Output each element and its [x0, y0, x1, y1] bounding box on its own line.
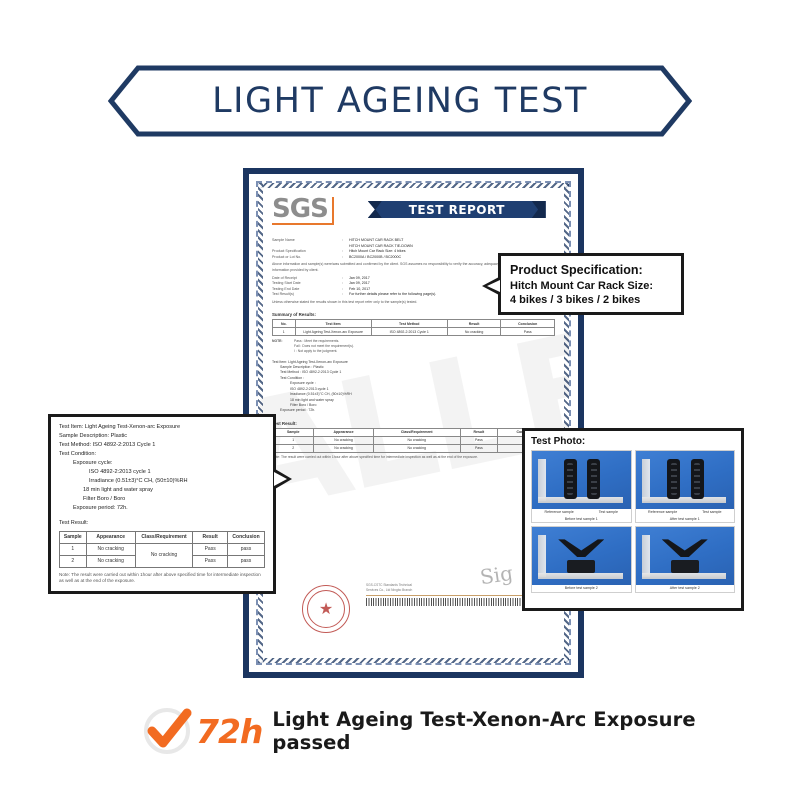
photo-caption: Before test sample 1 [532, 516, 631, 523]
column-header: No. [273, 320, 296, 328]
ruler-icon [538, 535, 546, 577]
ruler-icon [642, 459, 650, 501]
photo-image-before-1 [532, 451, 631, 509]
signature-area: ★ Sig SGS-CSTC Standards Technical Servi… [286, 583, 541, 639]
table-cell: No cracking [314, 436, 373, 444]
photo-label-right: Test sample [599, 509, 618, 516]
table-cell: 1 [60, 543, 87, 555]
rack-bracket-part [558, 539, 604, 573]
test-photo-title: Test Photo: [531, 436, 735, 447]
test-photo-grid: Reference sample Test sample Before test… [531, 450, 735, 593]
rack-belt-part [587, 459, 600, 499]
photo-cell: Before test sample 2 [531, 526, 632, 593]
official-stamp-icon: ★ [302, 585, 350, 633]
table-cell: Pass [501, 328, 555, 336]
test-note: Note: The result were carried out within… [59, 572, 265, 585]
border-zigzag-top [258, 183, 569, 188]
certificate-header: SGS TEST REPORT [272, 197, 555, 233]
column-header: Result [447, 320, 501, 328]
table-header-row: No. Test Item Test Method Result Conclus… [273, 320, 555, 328]
table-cell: No cracking [373, 436, 460, 444]
test-detail-callout: Test Item: Light Ageing Test-Xenon-arc E… [48, 414, 276, 594]
signature-block: Sig SGS-CSTC Standards Technical Service… [366, 583, 541, 606]
ruler-icon [642, 535, 650, 577]
column-header: Class/Requirement [373, 428, 460, 436]
rack-belt-part [564, 459, 577, 499]
table-cell: 2 [273, 444, 314, 452]
footer-caption: 72h Light Ageing Test-Xenon-Arc Exposure… [142, 706, 702, 756]
table-cell: Light Ageing Test-Xenon-arc Exposure [295, 328, 371, 336]
test-line: ISO 4892-2:2013 cycle 1 [59, 468, 265, 477]
table-cell: No cracking [135, 543, 192, 567]
photo-cell: Reference sample Test sample Before test… [531, 450, 632, 523]
ruler-icon [642, 573, 727, 579]
test-report-ribbon: TEST REPORT [368, 201, 546, 218]
photo-image-after-1 [636, 451, 735, 509]
column-header: Appearance [314, 428, 373, 436]
test-photo-callout: Test Photo: Reference sample Test sample… [522, 428, 744, 611]
rack-bracket-part [662, 539, 708, 573]
table-cell: No cracking [86, 543, 135, 555]
test-result-title: Test Result: [59, 519, 265, 528]
photo-label-right: Test sample [702, 509, 721, 516]
page-title: LIGHT AGEING TEST [108, 65, 692, 137]
ruler-icon [642, 497, 727, 503]
spec-heading: Product Specification: [510, 263, 672, 279]
ruler-icon [538, 459, 546, 501]
column-header: Appearance [86, 531, 135, 543]
table-header-row: Sample Appearance Class/Requirement Resu… [273, 428, 555, 436]
check-badge [142, 706, 194, 756]
test-line: 18 min light and water spray [59, 486, 265, 495]
field-key: Product or Lot No. [272, 255, 342, 261]
table-cell: Pass [460, 436, 497, 444]
rack-belt-part [691, 459, 704, 499]
column-header: Sample [273, 428, 314, 436]
spec-options: 4 bikes / 3 bikes / 2 bikes [510, 293, 672, 307]
sgs-logo: SGS [272, 197, 334, 225]
summary-table: No. Test Item Test Method Result Conclus… [272, 319, 555, 336]
field-sep: : [342, 255, 349, 261]
callout-body: Test Item: Light Ageing Test-Xenon-arc E… [51, 417, 273, 591]
duration-label: 72h [196, 715, 262, 748]
test-result-table: Sample Appearance Class/Requirement Resu… [59, 531, 265, 568]
table-row: 2 No cracking No cracking Pass pass [273, 444, 555, 452]
infographic-page: LIGHT AGEING TEST ALLEN SGS TEST REPORT … [0, 0, 800, 800]
callout-body: Test Photo: Reference sample Test sample… [525, 431, 741, 598]
title-banner: LIGHT AGEING TEST [108, 65, 692, 137]
result-footnote: Note: The result were carried out within… [272, 455, 555, 460]
result-table: Sample Appearance Class/Requirement Resu… [272, 428, 555, 453]
photo-image-before-2 [532, 527, 631, 585]
result-title: Test Result: [272, 421, 555, 426]
notes-block: NOTE: Pass : Meet the requirements. Fail… [272, 339, 555, 354]
detail-block: Test Item: Light Ageing Test-Xenon-arc E… [272, 360, 555, 414]
column-header: Sample [60, 531, 87, 543]
test-line: Test Condition: [59, 450, 265, 459]
photo-caption: After test sample 1 [636, 516, 735, 523]
table-cell: Pass [460, 444, 497, 452]
table-cell: ISO 4892-2:2013 Cycle 1 [371, 328, 447, 336]
test-line: Exposure cycle: [59, 459, 265, 468]
signature-rule [366, 595, 541, 596]
table-row: 1 No cracking No cracking Pass pass [60, 543, 265, 555]
date-key: Test Result(s) [272, 292, 342, 298]
column-header: Result [193, 531, 228, 543]
table-cell: Pass [193, 555, 228, 567]
footer-barcode-icon [366, 598, 541, 606]
photo-image-after-2 [636, 527, 735, 585]
callout-tail-inner [487, 280, 500, 292]
date-sep: : [342, 292, 349, 298]
photo-cell: Reference sample Test sample After test … [635, 450, 736, 523]
rack-belt-part [667, 459, 680, 499]
detail-line: Exposure period : 72h. [272, 408, 555, 413]
callout-tail-inner [274, 472, 287, 486]
photo-caption: After test sample 2 [636, 585, 735, 592]
test-line: Test Item: Light Ageing Test-Xenon-arc E… [59, 423, 265, 432]
table-cell: 1 [273, 436, 314, 444]
table-cell: No cracking [314, 444, 373, 452]
column-header: Conclusion [501, 320, 555, 328]
ruler-icon [538, 497, 623, 503]
table-row: 1 No cracking No cracking Pass pass [273, 436, 555, 444]
photo-sublabels: Reference sample Test sample [532, 509, 631, 516]
notes-list: Pass : Meet the requirements. Fail : Doe… [294, 339, 354, 354]
callout-body: Product Specification: Hitch Mount Car R… [501, 256, 681, 314]
table-cell: pass [228, 543, 265, 555]
footer-text: Light Ageing Test-Xenon-Arc Exposure pas… [272, 708, 702, 754]
signature-company: Services Co., Ltd Ningbo Branch [366, 588, 541, 593]
test-line: Sample Description: Plastic [59, 432, 265, 441]
table-row: 1 Light Ageing Test-Xenon-arc Exposure I… [273, 328, 555, 336]
column-header: Test Method [371, 320, 447, 328]
table-cell: 2 [60, 555, 87, 567]
column-header: Result [460, 428, 497, 436]
column-header: Test Item [295, 320, 371, 328]
table-cell: pass [228, 555, 265, 567]
column-header: Conclusion [228, 531, 265, 543]
photo-caption: Before test sample 2 [532, 585, 631, 592]
spec-subheading: Hitch Mount Car Rack Size: [510, 279, 672, 293]
table-cell: No cracking [447, 328, 501, 336]
photo-cell: After test sample 2 [635, 526, 736, 593]
table-cell: No cracking [86, 555, 135, 567]
photo-sublabels: Reference sample Test sample [636, 509, 735, 516]
test-line: Irradiance (0.51±3)°C CH, (50±10)%RH [59, 477, 265, 486]
ruler-icon [538, 573, 623, 579]
photo-label-left: Reference sample [648, 509, 677, 516]
table-header-row: Sample Appearance Class/Requirement Resu… [60, 531, 265, 543]
test-line: Exposure period: 72h. [59, 504, 265, 513]
handwritten-signature-icon: Sig [478, 559, 515, 592]
photo-label-left: Reference sample [545, 509, 574, 516]
column-header: Class/Requirement [135, 531, 192, 543]
note-item: / : Not apply to the judgment. [294, 349, 354, 354]
table-cell: 1 [273, 328, 296, 336]
check-mark-icon [142, 706, 194, 756]
test-line: Test Method: ISO 4892-2:2013 Cycle 1 [59, 441, 265, 450]
table-cell: Pass [193, 543, 228, 555]
table-cell: No cracking [373, 444, 460, 452]
stamp-inner-ring [307, 590, 345, 628]
test-line: Filter Boro / Boro [59, 495, 265, 504]
border-zigzag-bottom [258, 658, 569, 663]
notes-label: NOTE: [272, 339, 294, 354]
product-specification-callout: Product Specification: Hitch Mount Car R… [498, 253, 684, 315]
